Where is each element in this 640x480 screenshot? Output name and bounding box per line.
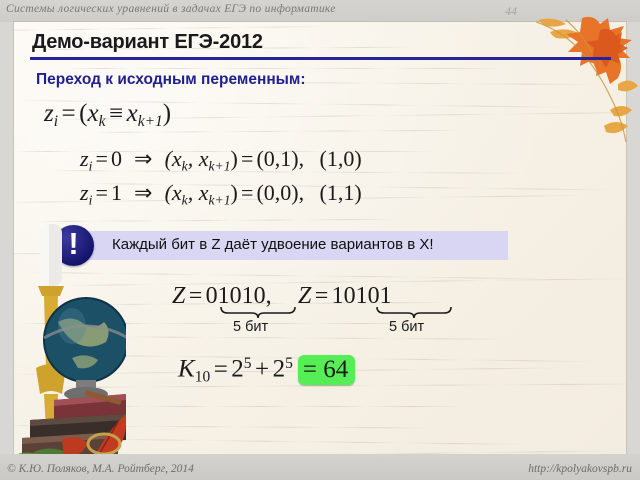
exclamation-glyph: ! <box>53 223 94 264</box>
case0-value: 0 <box>111 146 122 171</box>
case1-pair-open: (x <box>165 180 182 205</box>
page-title: Демо-вариант ЕГЭ-2012 <box>32 31 263 54</box>
underbrace-2 <box>376 306 452 319</box>
formula-case-zero: zi=0⇒(xk, xk+1)=(0,1),(1,0) <box>80 146 362 174</box>
formula-def-lhs-var: z <box>44 100 54 127</box>
formula-def-x2-sub: k+1 <box>138 113 163 130</box>
formula-def-eq: = <box>58 100 79 127</box>
case0-lhs-var: z <box>80 146 89 171</box>
formula-definition: zi=(xk≡xk+1) <box>44 100 171 131</box>
case0-pair-mid: , x <box>188 146 209 171</box>
case1-pair-sub2: k+1 <box>208 192 230 207</box>
formula-case-one: zi=1⇒(xk, xk+1)=(0,0),(1,1) <box>80 180 362 208</box>
underbrace-label-2: 5 бит <box>389 319 424 335</box>
case1-result-1: (0,0), <box>256 180 304 205</box>
formula-final-count: K10=25+25= 64 <box>178 355 355 386</box>
case0-pair-open: (x <box>165 146 182 171</box>
formula-def-close: ) <box>163 100 171 127</box>
section-subtitle: Переход к исходным переменным: <box>36 71 306 89</box>
case1-implies: ⇒ <box>122 180 165 205</box>
final-plus: + <box>252 356 273 383</box>
case0-eq: = <box>92 146 111 171</box>
final-term1-base: 2 <box>231 356 244 383</box>
slide-canvas: Системы логических уравнений в задачах Е… <box>0 0 640 480</box>
case1-eq: = <box>92 180 111 205</box>
z2-eq: = <box>311 283 331 309</box>
final-eq: = <box>210 356 231 383</box>
case0-pair-close: ) <box>231 146 238 171</box>
z1-eq: = <box>185 283 205 309</box>
final-result-highlight: = 64 <box>298 355 355 385</box>
case0-eq2: = <box>238 146 257 171</box>
case1-pair-mid: , x <box>188 180 209 205</box>
case1-lhs-var: z <box>80 180 89 205</box>
formula-def-x1: x <box>87 100 98 127</box>
case0-result-1: (0,1), <box>256 146 304 171</box>
final-k-var: K <box>178 356 195 383</box>
callout-text: Каждый бит в Z даёт удвоение вариантов в… <box>112 236 434 253</box>
case0-result-2: (1,0) <box>304 146 362 171</box>
exclamation-icon: ! <box>53 225 94 266</box>
title-divider <box>30 57 611 60</box>
final-term1-exp: 5 <box>244 355 252 372</box>
footer-url[interactable]: http://kpolyakovspb.ru <box>528 463 632 475</box>
formula-def-equiv: ≡ <box>105 100 126 127</box>
z1-label: Z <box>172 283 185 309</box>
running-title: Системы логических уравнений в задачах Е… <box>6 3 336 15</box>
formula-def-x2: x <box>127 100 138 127</box>
underbrace-1 <box>220 306 296 319</box>
case0-implies: ⇒ <box>122 146 165 171</box>
z2-label: Z <box>298 283 311 309</box>
underbrace-label-1: 5 бит <box>233 319 268 335</box>
case1-result-2: (1,1) <box>304 180 362 205</box>
final-term2-base: 2 <box>273 356 286 383</box>
page-number: 44 <box>505 4 517 19</box>
case1-pair-close: ) <box>231 180 238 205</box>
footer-copyright: © К.Ю. Поляков, М.А. Ройтберг, 2014 <box>7 463 194 475</box>
case0-pair-sub2: k+1 <box>208 158 230 173</box>
case1-eq2: = <box>238 180 257 205</box>
final-term2-exp: 5 <box>285 355 293 372</box>
final-k-sub: 10 <box>195 368 211 385</box>
case1-value: 1 <box>111 180 122 205</box>
